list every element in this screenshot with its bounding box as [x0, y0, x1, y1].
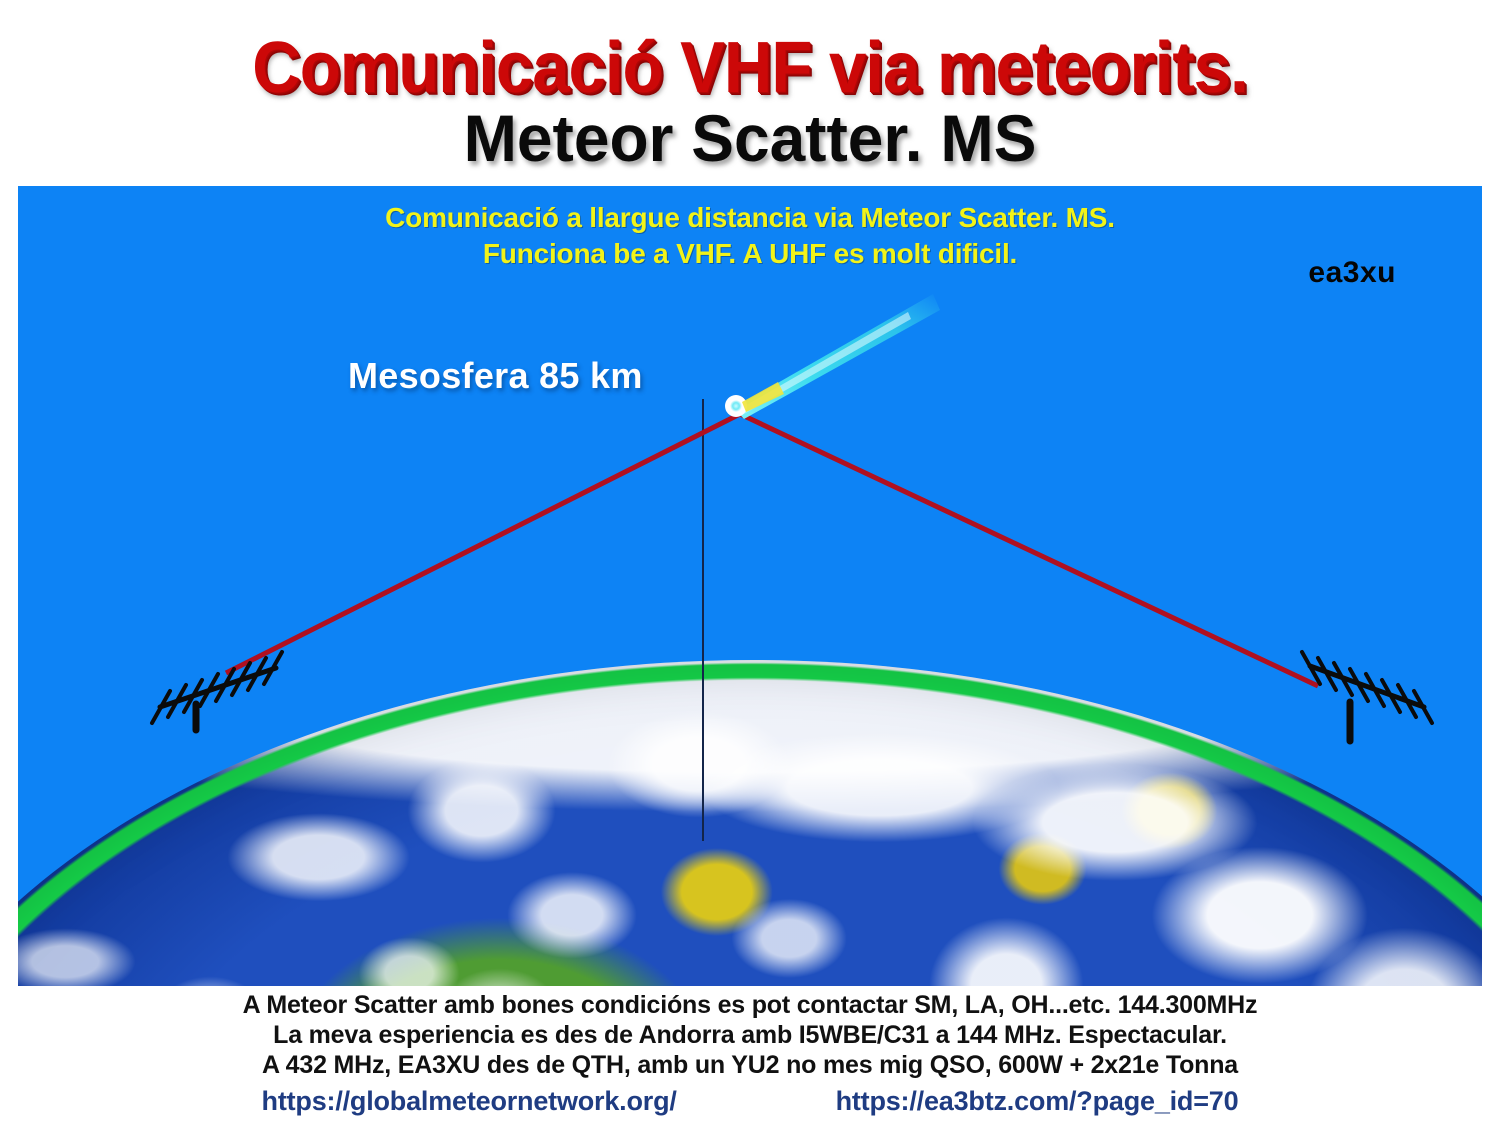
- link-globalmeteornetwork[interactable]: https://globalmeteornetwork.org/: [262, 1086, 677, 1116]
- antenna-left: [152, 652, 282, 730]
- diagram-sky-panel: Comunicació a llargue distancia via Mete…: [18, 186, 1482, 986]
- link-ea3btz[interactable]: https://ea3btz.com/?page_id=70: [836, 1086, 1239, 1116]
- footer-line-1: A Meteor Scatter amb bones condicións es…: [0, 986, 1500, 1020]
- radio-path-left: [226, 414, 740, 673]
- meteor-head-core-icon: [730, 400, 742, 412]
- footer-url-row: https://globalmeteornetwork.org/ https:/…: [0, 1086, 1500, 1117]
- antenna-right: [1302, 652, 1432, 741]
- page-title: Comunicació VHF via meteorits.: [53, 0, 1448, 108]
- diagram-overlay-svg: [18, 186, 1482, 986]
- footer-text-block: A Meteor Scatter amb bones condicións es…: [0, 986, 1500, 1125]
- radio-path-right: [740, 414, 1318, 686]
- page-title-block: Comunicació VHF via meteorits. Meteor Sc…: [0, 0, 1500, 185]
- footer-line-3: A 432 MHz, EA3XU des de QTH, amb un YU2 …: [0, 1050, 1500, 1080]
- page-subtitle: Meteor Scatter. MS: [23, 102, 1478, 174]
- footer-line-2: La meva esperiencia es des de Andorra am…: [0, 1020, 1500, 1050]
